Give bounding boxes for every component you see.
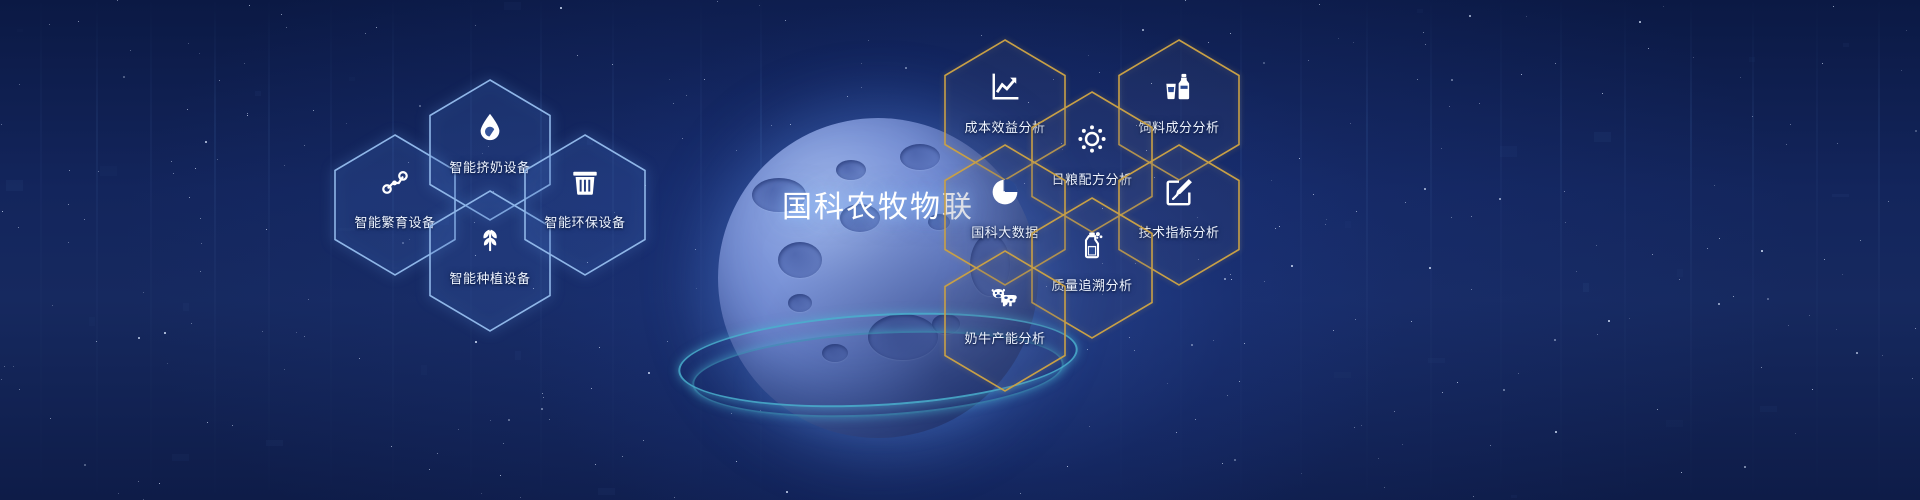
star xyxy=(785,20,786,21)
star xyxy=(981,35,982,36)
star xyxy=(1767,298,1769,300)
star xyxy=(1521,74,1522,75)
star xyxy=(52,305,53,306)
star xyxy=(437,453,438,454)
star xyxy=(1325,224,1326,225)
star xyxy=(1812,389,1813,390)
star xyxy=(187,109,188,110)
star xyxy=(1222,463,1223,464)
star xyxy=(1761,367,1762,368)
star xyxy=(717,1,718,2)
star xyxy=(1681,472,1682,473)
star xyxy=(1088,55,1089,56)
star xyxy=(1099,72,1100,73)
star xyxy=(1142,29,1144,31)
star xyxy=(191,323,192,324)
star xyxy=(595,464,596,465)
star xyxy=(249,5,250,6)
star xyxy=(1185,0,1186,1)
star xyxy=(1652,254,1653,255)
star xyxy=(1499,198,1501,200)
star xyxy=(304,145,305,146)
star xyxy=(365,33,366,34)
star xyxy=(1856,352,1858,354)
hex-cell-label: 奶牛产能分析 xyxy=(921,328,1089,347)
star xyxy=(1526,16,1527,17)
star xyxy=(1,124,2,125)
star xyxy=(481,493,482,494)
star xyxy=(1134,350,1135,351)
star xyxy=(1718,303,1720,305)
star xyxy=(173,173,174,174)
star xyxy=(1629,318,1630,319)
star xyxy=(195,168,196,169)
star xyxy=(1490,445,1491,446)
star xyxy=(1648,48,1649,49)
star xyxy=(1837,143,1838,144)
star xyxy=(1679,279,1680,280)
star xyxy=(1714,185,1715,186)
star xyxy=(1761,250,1763,252)
star xyxy=(549,419,550,420)
star xyxy=(98,171,99,172)
star xyxy=(1361,425,1362,426)
star xyxy=(759,5,760,6)
star xyxy=(1451,217,1452,218)
star xyxy=(905,67,907,69)
hero-banner: 国科农牧物联 智能繁育设备智能挤奶设备智能种植设备智能环保设备 成本效益分析饲料… xyxy=(0,0,1920,500)
star xyxy=(50,418,51,419)
star xyxy=(84,464,86,466)
star xyxy=(419,105,421,107)
hex-outline xyxy=(523,134,647,276)
star xyxy=(667,341,668,342)
star xyxy=(1809,315,1810,316)
star xyxy=(1451,79,1453,81)
star xyxy=(674,497,675,498)
star xyxy=(1442,392,1443,393)
star xyxy=(475,341,477,343)
star xyxy=(1471,216,1472,217)
star xyxy=(1707,248,1708,249)
star xyxy=(1087,349,1088,350)
star xyxy=(1719,238,1720,239)
star xyxy=(643,440,644,441)
star xyxy=(861,63,862,64)
star xyxy=(786,491,788,493)
star xyxy=(599,347,600,348)
star xyxy=(217,159,218,160)
star xyxy=(18,227,19,228)
star xyxy=(1441,148,1442,149)
star xyxy=(1244,343,1245,344)
star xyxy=(1191,344,1193,346)
star xyxy=(475,25,476,26)
star xyxy=(96,341,97,342)
hex-cell-cow[interactable]: 奶牛产能分析 xyxy=(943,250,1067,392)
star xyxy=(1275,228,1276,229)
star xyxy=(281,14,282,15)
star xyxy=(171,161,172,162)
hex-cell-recycle-bin[interactable]: 智能环保设备 xyxy=(523,134,647,276)
star xyxy=(167,363,168,364)
star xyxy=(622,456,623,457)
star xyxy=(1752,116,1753,117)
star xyxy=(247,113,248,114)
star xyxy=(1378,458,1379,459)
star xyxy=(1786,144,1787,145)
star xyxy=(520,497,521,498)
star xyxy=(1319,4,1320,5)
star xyxy=(1822,63,1823,64)
star xyxy=(500,475,501,476)
star xyxy=(200,271,201,272)
star xyxy=(244,63,245,64)
star xyxy=(1020,493,1021,494)
star xyxy=(159,483,160,484)
star xyxy=(200,218,201,219)
star xyxy=(1402,444,1403,445)
star xyxy=(13,366,14,367)
star xyxy=(1350,123,1351,124)
star xyxy=(1264,281,1265,282)
star xyxy=(304,336,305,337)
star xyxy=(117,0,118,1)
star xyxy=(1227,395,1228,396)
recycle-bin-icon xyxy=(523,162,647,202)
star xyxy=(376,27,377,28)
star xyxy=(577,55,578,56)
star xyxy=(1663,6,1664,7)
star xyxy=(1906,30,1907,31)
star xyxy=(541,408,543,410)
star xyxy=(284,165,285,166)
star xyxy=(391,446,392,447)
star xyxy=(669,79,670,80)
star xyxy=(232,425,233,426)
star xyxy=(19,84,20,85)
star xyxy=(1405,202,1406,203)
star xyxy=(1602,93,1603,94)
star xyxy=(1915,328,1916,329)
star xyxy=(1518,373,1519,374)
star xyxy=(1299,158,1300,159)
star xyxy=(247,115,248,116)
star xyxy=(1479,103,1480,104)
star xyxy=(143,292,144,293)
star xyxy=(1842,274,1843,275)
star xyxy=(68,204,69,205)
star xyxy=(1,379,2,380)
star xyxy=(219,80,220,81)
star xyxy=(1788,325,1789,326)
star xyxy=(1833,6,1834,7)
star xyxy=(1353,42,1354,43)
star xyxy=(49,24,50,25)
star xyxy=(69,170,70,171)
star xyxy=(266,229,267,230)
star xyxy=(861,87,862,88)
star xyxy=(704,79,705,80)
star xyxy=(1326,219,1327,220)
star xyxy=(543,397,544,398)
star xyxy=(199,53,200,54)
star xyxy=(1565,222,1566,223)
star xyxy=(1912,378,1913,379)
star xyxy=(868,40,869,41)
star xyxy=(847,96,848,97)
star xyxy=(118,493,119,494)
star xyxy=(1473,496,1474,497)
star xyxy=(503,443,504,444)
star xyxy=(1417,79,1418,80)
star xyxy=(429,469,430,470)
star xyxy=(1888,201,1889,202)
star xyxy=(1067,466,1068,467)
star xyxy=(1429,267,1431,269)
star xyxy=(359,358,360,359)
star xyxy=(1733,296,1734,297)
star xyxy=(686,95,687,96)
star xyxy=(1740,77,1741,78)
star xyxy=(736,461,737,462)
star xyxy=(205,141,207,143)
star xyxy=(1576,271,1577,272)
star xyxy=(1744,466,1746,468)
star xyxy=(138,337,140,339)
star xyxy=(346,123,347,124)
star xyxy=(612,64,613,65)
star xyxy=(1554,339,1556,341)
star xyxy=(673,103,674,104)
star xyxy=(1693,57,1694,58)
star xyxy=(1860,240,1861,241)
star xyxy=(1271,180,1272,181)
star xyxy=(1213,340,1214,341)
star xyxy=(1469,15,1471,17)
star xyxy=(458,429,459,430)
star xyxy=(1449,106,1450,107)
star xyxy=(1234,459,1236,461)
star xyxy=(1424,188,1426,190)
star xyxy=(78,21,79,22)
star xyxy=(1657,409,1658,410)
hex-outline xyxy=(943,250,1067,392)
star xyxy=(68,242,69,243)
star xyxy=(1555,431,1557,433)
hex-cell-label: 智能环保设备 xyxy=(501,212,669,231)
star xyxy=(1882,355,1883,356)
star xyxy=(296,332,297,333)
star xyxy=(490,420,491,421)
star xyxy=(1901,70,1902,71)
star xyxy=(201,243,202,244)
star xyxy=(286,27,287,28)
star xyxy=(591,388,592,389)
star xyxy=(262,331,263,332)
star xyxy=(1394,411,1395,412)
star xyxy=(1089,426,1090,427)
star xyxy=(560,7,562,9)
star xyxy=(164,332,166,334)
star xyxy=(1608,320,1610,322)
star xyxy=(1384,487,1385,488)
star xyxy=(1239,381,1240,382)
star xyxy=(1564,191,1565,192)
star xyxy=(1167,383,1168,384)
star xyxy=(542,393,543,394)
star xyxy=(1824,259,1825,260)
star xyxy=(1425,44,1426,45)
star xyxy=(1301,473,1302,474)
star xyxy=(1176,432,1177,433)
star xyxy=(648,372,650,374)
star xyxy=(1423,32,1424,33)
star xyxy=(4,366,5,367)
star xyxy=(1195,419,1196,420)
star xyxy=(1279,226,1280,227)
star xyxy=(1457,382,1458,383)
star xyxy=(123,76,125,78)
cow-icon xyxy=(943,278,1067,318)
star xyxy=(1639,21,1641,23)
star xyxy=(508,419,510,421)
star xyxy=(1795,433,1796,434)
star xyxy=(1555,63,1556,64)
star xyxy=(284,369,285,370)
star xyxy=(1308,60,1309,61)
star xyxy=(138,481,139,482)
star xyxy=(308,299,309,300)
star xyxy=(19,389,20,390)
star xyxy=(189,197,190,198)
star xyxy=(1291,265,1293,267)
star xyxy=(1597,334,1598,335)
star xyxy=(1263,62,1265,64)
star xyxy=(1338,38,1339,39)
star xyxy=(1356,211,1357,212)
star xyxy=(1354,427,1355,428)
star xyxy=(1915,130,1917,132)
star xyxy=(313,110,314,111)
star xyxy=(1333,330,1334,331)
star xyxy=(188,43,189,44)
star xyxy=(1596,245,1597,246)
star xyxy=(1411,321,1412,322)
star xyxy=(130,50,131,51)
star xyxy=(1790,124,1791,125)
star xyxy=(1355,319,1356,320)
star xyxy=(1836,329,1837,330)
star xyxy=(1471,289,1472,290)
star xyxy=(1230,33,1231,34)
star xyxy=(1313,194,1314,195)
star xyxy=(84,219,85,220)
star xyxy=(207,422,208,423)
star xyxy=(1503,389,1505,391)
star xyxy=(2,211,3,212)
